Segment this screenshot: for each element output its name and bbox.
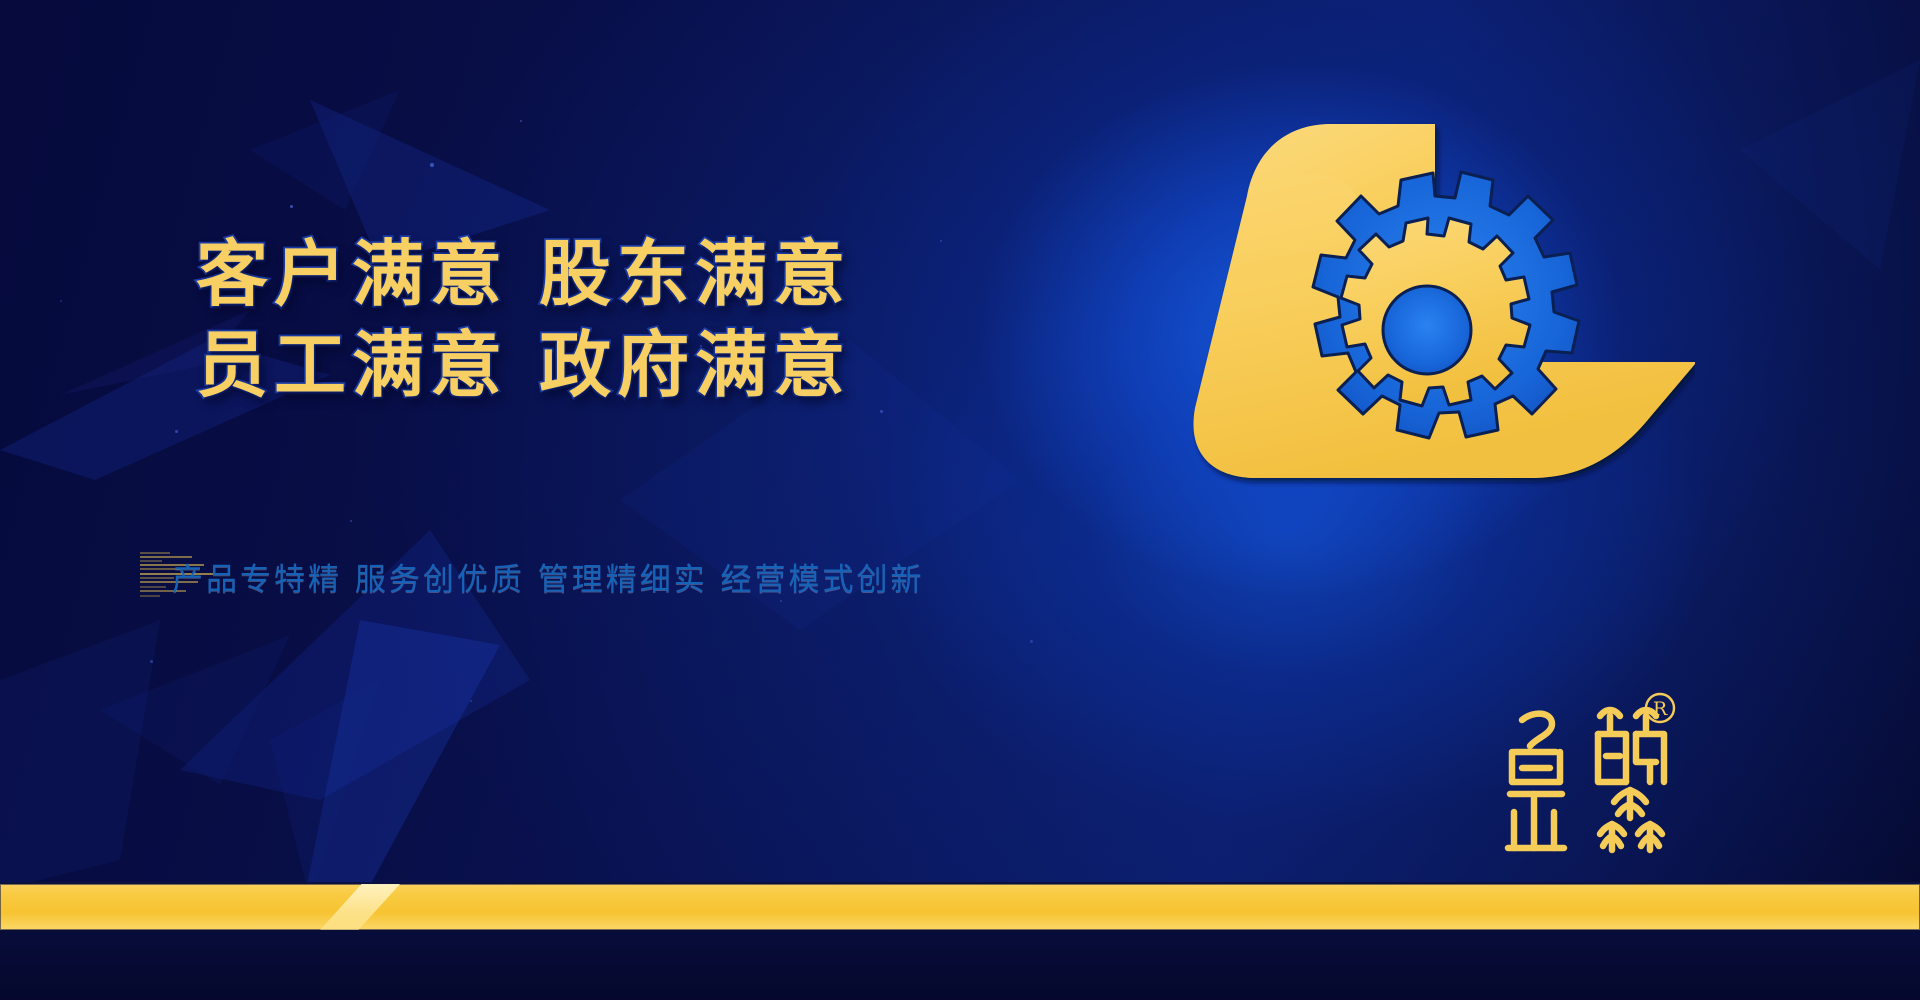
company-logo-icon [1135, 100, 1695, 500]
headline-line-2: 员工满意 政府满意 [196, 323, 1016, 408]
slogan-ribbon: 产品专特精 服务创优质 管理精细实 经营模式创新 [140, 546, 1030, 606]
svg-text:R: R [1653, 698, 1668, 720]
headline-block: 客户满意 股东满意 员工满意 政府满意 [196, 232, 1016, 408]
background-polygon-5 [0, 560, 260, 900]
bottom-accent-bar [0, 884, 1920, 930]
brand-wordmark: R [1490, 690, 1690, 870]
footer-strip [0, 933, 1920, 1000]
poster-canvas: 客户满意 股东满意 员工满意 政府满意 产品专特精 服务创优质 管理精细实 经营… [0, 0, 1920, 1000]
ribbon-slogan-text: 产品专特精 服务创优质 管理精细实 经营模式创新 [172, 546, 925, 606]
headline-line-1: 客户满意 股东满意 [196, 232, 1016, 317]
